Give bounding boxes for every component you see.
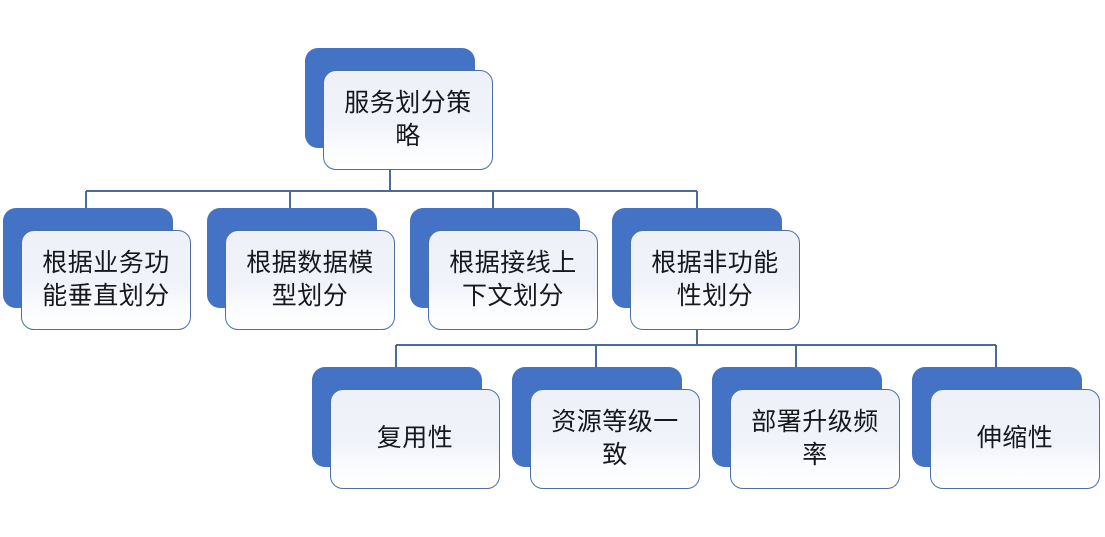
node-card[interactable]: 根据数据模型划分 <box>225 230 395 330</box>
node-level3-resource-level[interactable]: 资源等级一致 <box>512 367 682 467</box>
node-label: 根据数据模型划分 <box>235 247 385 314</box>
node-level3-scalability[interactable]: 伸缩性 <box>912 367 1082 467</box>
node-card[interactable]: 根据业务功能垂直划分 <box>21 230 191 330</box>
node-label: 资源等级一致 <box>540 406 690 473</box>
node-label: 根据业务功能垂直划分 <box>31 247 181 314</box>
node-card[interactable]: 资源等级一致 <box>530 389 700 489</box>
node-label: 部署升级频率 <box>740 406 890 473</box>
node-level3-reusability[interactable]: 复用性 <box>312 367 482 467</box>
node-level2-non-functional[interactable]: 根据非功能性划分 <box>612 208 782 308</box>
node-card[interactable]: 伸缩性 <box>930 389 1100 489</box>
node-card[interactable]: 服务划分策略 <box>323 70 493 170</box>
node-label: 根据非功能性划分 <box>640 247 790 314</box>
node-card[interactable]: 部署升级频率 <box>730 389 900 489</box>
node-level2-business-function[interactable]: 根据业务功能垂直划分 <box>3 208 173 308</box>
node-label: 服务划分策略 <box>333 87 483 154</box>
node-card[interactable]: 根据接线上下文划分 <box>428 230 598 330</box>
node-root[interactable]: 服务划分策略 <box>305 48 475 148</box>
node-label: 根据接线上下文划分 <box>438 247 588 314</box>
node-level2-bounded-context[interactable]: 根据接线上下文划分 <box>410 208 580 308</box>
node-label: 伸缩性 <box>977 422 1054 456</box>
node-card[interactable]: 根据非功能性划分 <box>630 230 800 330</box>
diagram-canvas: 服务划分策略 根据业务功能垂直划分 根据数据模型划分 根据接线上下文划分 根据非… <box>0 0 1105 537</box>
node-label: 复用性 <box>377 422 454 456</box>
node-level3-deploy-frequency[interactable]: 部署升级频率 <box>712 367 882 467</box>
node-card[interactable]: 复用性 <box>330 389 500 489</box>
node-level2-data-model[interactable]: 根据数据模型划分 <box>207 208 377 308</box>
